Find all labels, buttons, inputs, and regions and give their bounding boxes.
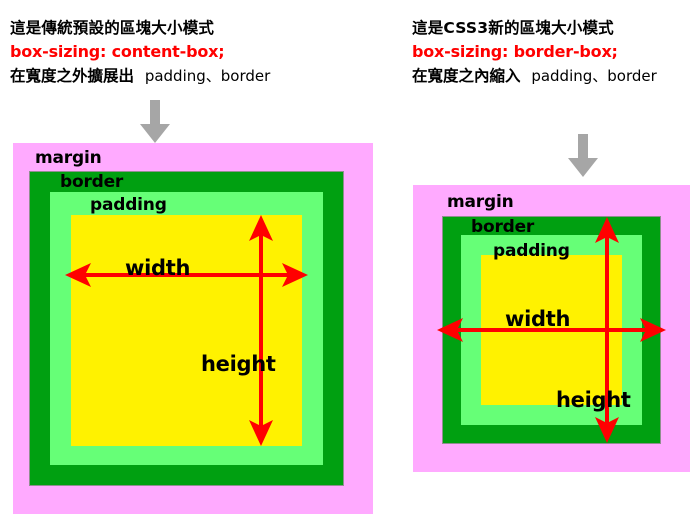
label-padding-right: padding xyxy=(493,241,570,261)
caption-border-box: 這是CSS3新的區塊大小模式 box-sizing: border-box; 在… xyxy=(412,16,657,88)
label-width-right: width xyxy=(505,307,570,331)
label-width-left: width xyxy=(125,256,190,280)
box-model-border-box: margin border padding width height xyxy=(413,185,690,472)
label-margin-right: margin xyxy=(447,192,513,212)
caption-right-line3: 在寬度之內縮入 padding、border xyxy=(412,64,657,88)
arrow-down-icon xyxy=(137,100,173,144)
caption-right-line1: 這是CSS3新的區塊大小模式 xyxy=(412,16,657,40)
diagram-canvas: 這是傳統預設的區塊大小模式 box-sizing: content-box; 在… xyxy=(0,0,700,514)
caption-left-line3-bold: 在寬度之外擴展出 xyxy=(10,67,134,85)
content-area-left xyxy=(71,215,302,446)
caption-left-line1: 這是傳統預設的區塊大小模式 xyxy=(10,16,270,40)
label-padding-left: padding xyxy=(90,195,167,215)
caption-right-code: box-sizing: border-box; xyxy=(412,40,657,64)
label-border-left: border xyxy=(60,172,123,192)
caption-content-box: 這是傳統預設的區塊大小模式 box-sizing: content-box; 在… xyxy=(10,16,270,88)
caption-right-line3-thin: padding、border xyxy=(531,67,656,85)
caption-right-line3-bold: 在寬度之內縮入 xyxy=(412,67,521,85)
label-height-left: height xyxy=(201,352,276,376)
arrow-down-icon xyxy=(565,134,601,178)
label-border-right: border xyxy=(471,217,534,237)
box-model-content-box: margin border padding width height xyxy=(13,143,373,514)
label-height-right: height xyxy=(556,388,631,412)
label-margin-left: margin xyxy=(35,148,101,168)
caption-left-line3-thin: padding、border xyxy=(145,67,270,85)
caption-left-code: box-sizing: content-box; xyxy=(10,40,270,64)
caption-left-line3: 在寬度之外擴展出 padding、border xyxy=(10,64,270,88)
